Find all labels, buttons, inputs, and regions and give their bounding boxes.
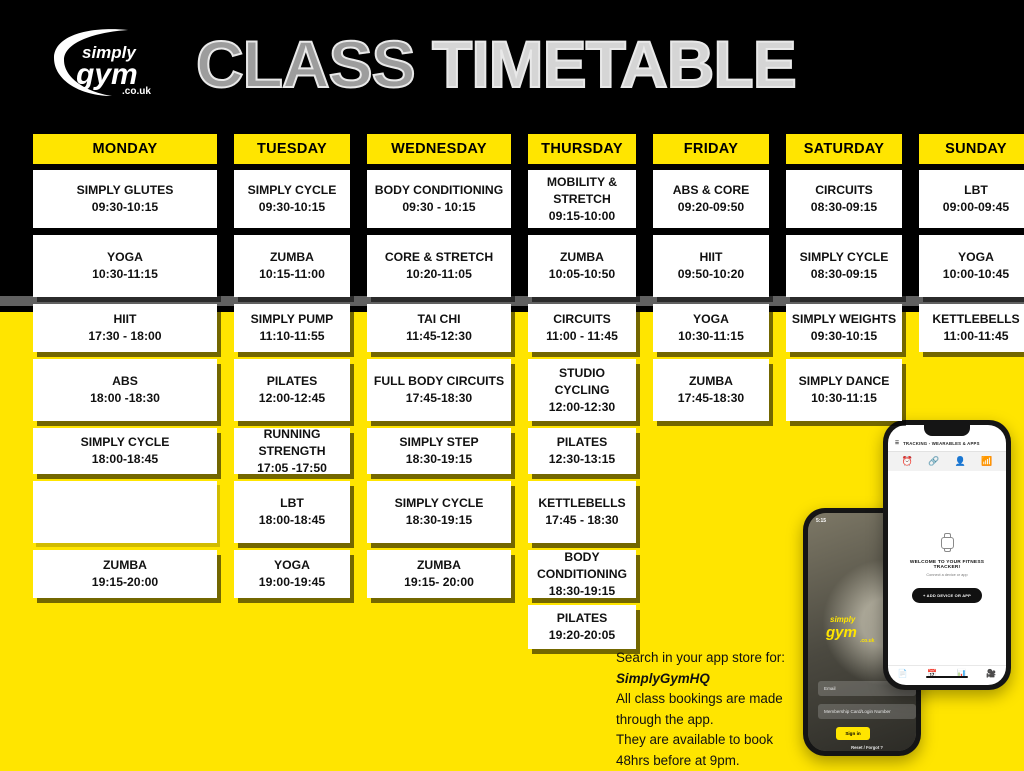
- day-column-friday: FRIDAY ABS & CORE09:20-09:50 HIIT09:50-1…: [653, 134, 769, 656]
- class-name: SIMPLY PUMP: [251, 311, 334, 328]
- class-time: 19:15-20:00: [92, 574, 158, 591]
- app-store-name: SimplyGymHQ: [616, 669, 816, 690]
- page-title-light: TIMETABLE: [432, 27, 796, 101]
- class-time: 09:30-10:15: [92, 199, 158, 216]
- class-time: 10:05-10:50: [549, 266, 615, 283]
- class-cell[interactable]: CIRCUITS08:30-09:15: [786, 170, 902, 228]
- class-time: 12:00-12:45: [259, 390, 325, 407]
- class-time: 12:00-12:30: [549, 399, 615, 416]
- class-cell[interactable]: SIMPLY CYCLE18:00-18:45: [33, 428, 217, 474]
- day-column-sunday: SUNDAY LBT09:00-09:45 YOGA10:00-10:45 KE…: [919, 134, 1024, 656]
- page-header: simply gym .co.uk CLASS TIMETABLE: [0, 0, 1024, 128]
- reset-password-link[interactable]: Reset / Forgot ?: [808, 745, 916, 750]
- class-cell[interactable]: MOBILITY & STRETCH09:15-10:00: [528, 170, 636, 228]
- class-cell[interactable]: BODY CONDITIONING18:30-19:15: [528, 550, 636, 598]
- class-cell-empty: [33, 481, 217, 543]
- class-name: YOGA: [274, 557, 310, 574]
- class-time: 19:00-19:45: [259, 574, 325, 591]
- svg-text:.co.uk: .co.uk: [122, 86, 151, 97]
- class-cell[interactable]: SIMPLY CYCLE08:30-09:15: [786, 235, 902, 297]
- app-info-line-4: They are available to book: [616, 730, 816, 751]
- day-header-thursday: THURSDAY: [528, 134, 636, 164]
- class-cell[interactable]: SIMPLY DANCE10:30-11:15: [786, 359, 902, 421]
- day-header-sunday: SUNDAY: [919, 134, 1024, 164]
- class-name: LBT: [964, 182, 988, 199]
- class-time: 11:45-12:30: [406, 328, 472, 345]
- app-info-line-2: All class bookings are made: [616, 689, 816, 710]
- class-name: BODY CONDITIONING: [532, 549, 632, 583]
- class-name: CIRCUITS: [815, 182, 873, 199]
- class-cell[interactable]: SIMPLY STEP18:30-19:15: [367, 428, 511, 474]
- video-nav-icon[interactable]: 🎥: [986, 670, 996, 678]
- class-timetable-grid: MONDAY SIMPLY GLUTES09:30-10:15 YOGA10:3…: [33, 134, 991, 656]
- class-time: 18:30-19:15: [406, 451, 472, 468]
- class-cell[interactable]: ABS18:00 -18:30: [33, 359, 217, 421]
- class-time: 09:30-10:15: [259, 199, 325, 216]
- class-time: 10:20-11:05: [406, 266, 472, 283]
- class-cell[interactable]: ZUMBA10:05-10:50: [528, 235, 636, 297]
- class-cell[interactable]: PILATES12:30-13:15: [528, 428, 636, 474]
- class-time: 09:30-10:15: [811, 328, 877, 345]
- class-time: 08:30-09:15: [811, 266, 877, 283]
- class-name: PILATES: [557, 610, 608, 627]
- class-time: 10:30-11:15: [92, 266, 158, 283]
- class-name: SIMPLY CYCLE: [395, 495, 484, 512]
- class-name: TAI CHI: [417, 311, 460, 328]
- app-info-line-1: Search in your app store for:: [616, 648, 816, 669]
- class-name: ZUMBA: [103, 557, 147, 574]
- day-header-wednesday: WEDNESDAY: [367, 134, 511, 164]
- class-name: ABS: [112, 373, 138, 390]
- app-info-line-5: 48hrs before at 9pm.: [616, 751, 816, 771]
- class-time: 17:45 - 18:30: [545, 512, 618, 529]
- class-name: RUNNING STRENGTH: [238, 426, 346, 460]
- class-name: FULL BODY CIRCUITS: [374, 373, 504, 390]
- class-name: SIMPLY GLUTES: [77, 182, 174, 199]
- class-time: 19:15- 20:00: [404, 574, 474, 591]
- class-name: SIMPLY CYCLE: [81, 434, 170, 451]
- class-cell[interactable]: BODY CONDITIONING09:30 - 10:15: [367, 170, 511, 228]
- class-time: 17:45-18:30: [678, 390, 744, 407]
- class-name: KETTLEBELLS: [538, 495, 625, 512]
- class-cell[interactable]: CIRCUITS11:00 - 11:45: [528, 304, 636, 352]
- class-time: 18:30-19:15: [549, 583, 615, 600]
- class-cell[interactable]: ABS & CORE09:20-09:50: [653, 170, 769, 228]
- class-cell[interactable]: RUNNING STRENGTH17:05 -17:50: [234, 428, 350, 474]
- class-cell[interactable]: PILATES19:20-20:05: [528, 605, 636, 649]
- day-column-monday: MONDAY SIMPLY GLUTES09:30-10:15 YOGA10:3…: [33, 134, 217, 656]
- class-cell[interactable]: FULL BODY CIRCUITS17:45-18:30: [367, 359, 511, 421]
- class-time: 10:30-11:15: [678, 328, 744, 345]
- page-title: CLASS TIMETABLE: [196, 22, 796, 106]
- class-time: 11:00 - 11:45: [546, 328, 618, 345]
- class-name: SIMPLY DANCE: [799, 373, 890, 390]
- day-column-wednesday: WEDNESDAY BODY CONDITIONING09:30 - 10:15…: [367, 134, 511, 656]
- class-time: 10:15-11:00: [259, 266, 325, 283]
- class-time: 18:30-19:15: [406, 512, 472, 529]
- class-time: 18:00-18:45: [259, 512, 325, 529]
- class-name: YOGA: [958, 249, 994, 266]
- class-time: 17:45-18:30: [406, 390, 472, 407]
- class-time: 09:20-09:50: [678, 199, 744, 216]
- class-name: KETTLEBELLS: [932, 311, 1019, 328]
- class-cell[interactable]: KETTLEBELLS17:45 - 18:30: [528, 481, 636, 543]
- home-indicator: [926, 676, 968, 678]
- class-time: 19:20-20:05: [549, 627, 615, 644]
- day-column-thursday: THURSDAY MOBILITY & STRETCH09:15-10:00 Z…: [528, 134, 636, 656]
- class-name: HIIT: [113, 311, 136, 328]
- class-cell[interactable]: SIMPLY GLUTES09:30-10:15: [33, 170, 217, 228]
- app-info-block: Search in your app store for: SimplyGymH…: [616, 648, 816, 771]
- class-cell[interactable]: ZUMBA19:15-20:00: [33, 550, 217, 598]
- class-name: STUDIO CYCLING: [532, 365, 632, 399]
- day-header-tuesday: TUESDAY: [234, 134, 350, 164]
- class-name: SIMPLY CYCLE: [800, 249, 889, 266]
- simply-gym-logo: simply gym .co.uk: [36, 24, 184, 100]
- class-cell[interactable]: HIIT17:30 - 18:00: [33, 304, 217, 352]
- class-time: 08:30-09:15: [811, 199, 877, 216]
- class-name: ZUMBA: [560, 249, 604, 266]
- sign-in-button[interactable]: Sign in: [836, 727, 870, 740]
- class-time: 17:05 -17:50: [257, 460, 327, 477]
- class-time: 18:00 -18:30: [90, 390, 160, 407]
- class-time: 10:00-10:45: [943, 266, 1009, 283]
- app-info-line-3: through the app.: [616, 710, 816, 731]
- class-time: 09:15-10:00: [549, 208, 615, 225]
- page-title-bold: CLASS: [196, 27, 432, 101]
- class-name: LBT: [280, 495, 304, 512]
- class-name: CIRCUITS: [553, 311, 611, 328]
- class-cell[interactable]: CORE & STRETCH10:20-11:05: [367, 235, 511, 297]
- class-cell[interactable]: LBT18:00-18:45: [234, 481, 350, 543]
- class-name: BODY CONDITIONING: [375, 182, 503, 199]
- class-time: 11:00-11:45: [943, 328, 1008, 345]
- class-name: SIMPLY CYCLE: [248, 182, 337, 199]
- class-cell[interactable]: YOGA10:00-10:45: [919, 235, 1024, 297]
- class-cell[interactable]: SIMPLY WEIGHTS09:30-10:15: [786, 304, 902, 352]
- class-cell[interactable]: SIMPLY PUMP11:10-11:55: [234, 304, 350, 352]
- class-name: SIMPLY STEP: [399, 434, 478, 451]
- class-name: YOGA: [693, 311, 729, 328]
- class-cell[interactable]: TAI CHI11:45-12:30: [367, 304, 511, 352]
- class-cell[interactable]: PILATES12:00-12:45: [234, 359, 350, 421]
- day-column-tuesday: TUESDAY SIMPLY CYCLE09:30-10:15 ZUMBA10:…: [234, 134, 350, 656]
- class-time: 12:30-13:15: [549, 451, 615, 468]
- day-header-saturday: SATURDAY: [786, 134, 902, 164]
- class-name: ZUMBA: [689, 373, 733, 390]
- class-time: 18:00-18:45: [92, 451, 158, 468]
- class-time: 11:10-11:55: [259, 328, 324, 345]
- class-cell[interactable]: SIMPLY CYCLE18:30-19:15: [367, 481, 511, 543]
- membership-number-field[interactable]: Membership Card/Login Number: [818, 704, 916, 719]
- class-cell[interactable]: KETTLEBELLS11:00-11:45: [919, 304, 1024, 352]
- class-cell[interactable]: STUDIO CYCLING12:00-12:30: [528, 359, 636, 421]
- class-name: ZUMBA: [417, 557, 461, 574]
- class-name: YOGA: [107, 249, 143, 266]
- class-cell[interactable]: ZUMBA19:15- 20:00: [367, 550, 511, 598]
- class-cell[interactable]: LBT09:00-09:45: [919, 170, 1024, 228]
- class-cell[interactable]: HIIT09:50-10:20: [653, 235, 769, 297]
- class-time: 17:30 - 18:00: [88, 328, 161, 345]
- day-header-friday: FRIDAY: [653, 134, 769, 164]
- class-cell[interactable]: YOGA19:00-19:45: [234, 550, 350, 598]
- class-name: MOBILITY & STRETCH: [532, 174, 632, 208]
- class-cell[interactable]: YOGA10:30-11:15: [653, 304, 769, 352]
- class-cell[interactable]: ZUMBA10:15-11:00: [234, 235, 350, 297]
- class-cell[interactable]: YOGA10:30-11:15: [33, 235, 217, 297]
- class-name: SIMPLY WEIGHTS: [792, 311, 896, 328]
- class-name: CORE & STRETCH: [385, 249, 493, 266]
- class-time: 09:00-09:45: [943, 199, 1009, 216]
- bottom-nav-bar: 📄 📅 📊 🎥: [888, 665, 1006, 685]
- class-cell[interactable]: SIMPLY CYCLE09:30-10:15: [234, 170, 350, 228]
- news-nav-icon[interactable]: 📄: [898, 670, 908, 678]
- class-time: 09:30 - 10:15: [402, 199, 475, 216]
- class-time: 09:50-10:20: [678, 266, 744, 283]
- class-cell[interactable]: ZUMBA17:45-18:30: [653, 359, 769, 421]
- class-time: 10:30-11:15: [811, 390, 877, 407]
- day-header-monday: MONDAY: [33, 134, 217, 164]
- class-name: ABS & CORE: [673, 182, 750, 199]
- class-name: PILATES: [267, 373, 318, 390]
- class-name: HIIT: [699, 249, 722, 266]
- class-name: ZUMBA: [270, 249, 314, 266]
- day-column-saturday: SATURDAY CIRCUITS08:30-09:15 SIMPLY CYCL…: [786, 134, 902, 656]
- class-name: PILATES: [557, 434, 608, 451]
